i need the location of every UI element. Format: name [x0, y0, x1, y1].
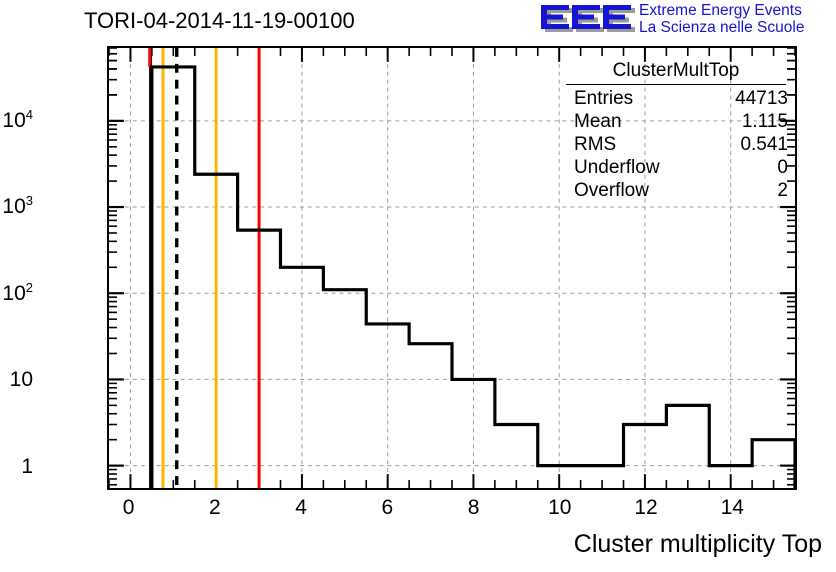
eee-logo-line1: Extreme Energy Events	[639, 2, 804, 19]
stats-box-title: ClusterMultTop	[560, 60, 792, 83]
x-tick-label: 0	[123, 496, 135, 520]
stats-row-label: Overflow	[574, 179, 649, 202]
x-tick-label: 10	[548, 496, 571, 520]
stats-row-label: Underflow	[574, 156, 660, 179]
root-canvas: { "title": "TORI-04-2014-11-19-00100", "…	[0, 0, 836, 572]
stats-row-value: 0.541	[740, 133, 788, 156]
x-tick-label: 4	[295, 496, 307, 520]
eee-logo: Extreme Energy Events La Scienza nelle S…	[539, 2, 836, 38]
x-tick-label: 12	[634, 496, 657, 520]
stats-row: Overflow2	[560, 179, 792, 202]
stats-row-label: Mean	[574, 110, 622, 133]
y-tick-label: 10	[10, 368, 33, 392]
stats-row-label: RMS	[574, 133, 616, 156]
marker-lines	[150, 48, 259, 488]
eee-logo-line2: La Scienza nelle Scuole	[639, 19, 804, 36]
stats-row: Entries44713	[560, 87, 792, 110]
stats-box: ClusterMultTop Entries44713Mean1.115RMS0…	[560, 60, 792, 202]
stats-row-value: 2	[777, 179, 788, 202]
stats-row-value: 0	[777, 156, 788, 179]
stats-row-label: Entries	[574, 87, 633, 110]
stats-row: RMS0.541	[560, 133, 792, 156]
x-tick-label: 14	[721, 496, 744, 520]
eee-logo-text: Extreme Energy Events La Scienza nelle S…	[639, 2, 804, 36]
stats-box-rows: Entries44713Mean1.115RMS0.541Underflow0O…	[560, 87, 792, 202]
y-tick-label: 1	[21, 455, 33, 479]
y-tick-label: 104	[2, 107, 33, 133]
x-tick-label: 6	[381, 496, 393, 520]
y-tick-label: 102	[2, 280, 33, 306]
plot-title: TORI-04-2014-11-19-00100	[84, 8, 355, 34]
stats-row-value: 1.115	[742, 110, 788, 133]
eee-logo-mark-icon	[539, 3, 635, 37]
stats-box-divider	[566, 84, 786, 85]
x-axis-title: Cluster multiplicity Top	[574, 530, 822, 559]
stats-row: Underflow0	[560, 156, 792, 179]
stats-row: Mean1.115	[560, 110, 792, 133]
y-tick-label: 103	[2, 193, 33, 219]
x-tick-label: 2	[209, 496, 221, 520]
x-tick-label: 8	[468, 496, 480, 520]
stats-row-value: 44713	[735, 87, 788, 110]
